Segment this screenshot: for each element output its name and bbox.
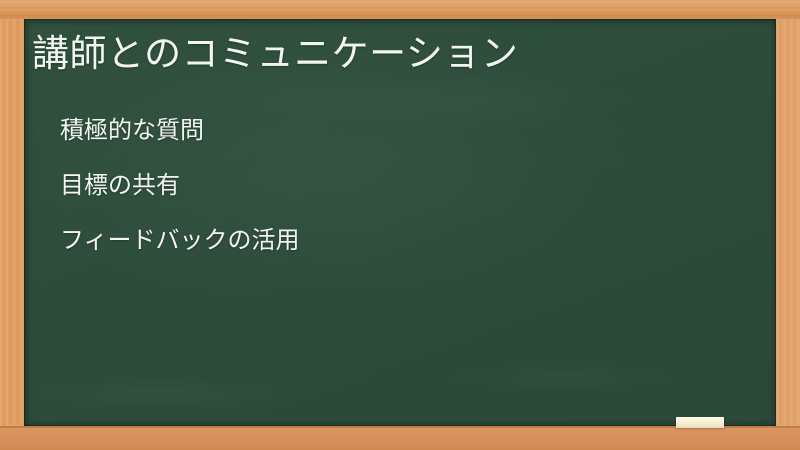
wooden-frame-top-rail	[0, 0, 800, 19]
list-item: 目標の共有	[60, 157, 300, 212]
chalk-stick-icon	[676, 417, 724, 428]
chalk-tray	[0, 426, 800, 450]
list-item: 積極的な質問	[60, 102, 300, 157]
slide-title: 講師とのコミュニケーション	[32, 33, 518, 76]
bullet-list: 積極的な質問 目標の共有 フィードバックの活用	[60, 102, 300, 267]
chalkboard-content: 講師とのコミュニケーション 積極的な質問 目標の共有 フィードバックの活用	[24, 19, 776, 426]
chalkboard: 講師とのコミュニケーション 積極的な質問 目標の共有 フィードバックの活用	[24, 19, 776, 426]
chalkboard-slide: 講師とのコミュニケーション 積極的な質問 目標の共有 フィードバックの活用	[0, 0, 800, 450]
list-item: フィードバックの活用	[60, 212, 300, 267]
